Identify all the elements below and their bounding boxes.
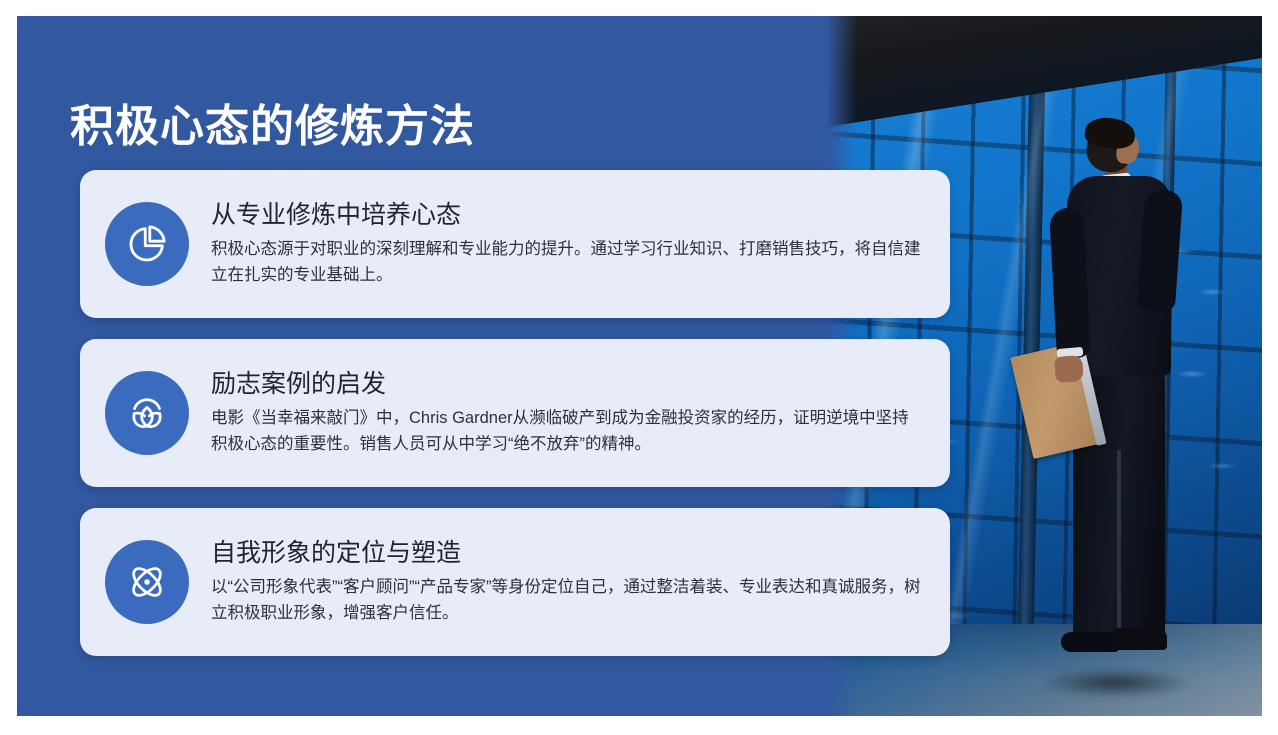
card-title: 从专业修炼中培养心态 bbox=[211, 200, 924, 231]
card-list: 从专业修炼中培养心态 积极心态源于对职业的深刻理解和专业能力的提升。通过学习行业… bbox=[80, 170, 950, 677]
list-item[interactable]: 励志案例的启发 电影《当幸福来敲门》中，Chris Gardner从濒临破产到成… bbox=[80, 339, 950, 487]
list-item[interactable]: 自我形象的定位与塑造 以“公司形象代表”“客户顾问”“产品专家”等身份定位自己，… bbox=[80, 508, 950, 656]
card-description: 电影《当幸福来敲门》中，Chris Gardner从濒临破产到成为金融投资家的经… bbox=[211, 405, 924, 457]
businessman-shoe-right bbox=[1111, 628, 1167, 650]
card-text: 励志案例的启发 电影《当幸福来敲门》中，Chris Gardner从濒临破产到成… bbox=[211, 369, 950, 457]
slide: 积极心态的修炼方法 从专业修炼中培养心态 积极心态源于对职业的深刻理解和专业能力… bbox=[17, 16, 1262, 716]
card-description: 积极心态源于对职业的深刻理解和专业能力的提升。通过学习行业知识、打磨销售技巧，将… bbox=[211, 236, 924, 288]
lotus-flower-icon bbox=[105, 371, 189, 455]
pie-chart-icon bbox=[105, 202, 189, 286]
card-title: 自我形象的定位与塑造 bbox=[211, 538, 924, 569]
businessman-hand bbox=[1054, 355, 1084, 383]
card-text: 从专业修炼中培养心态 积极心态源于对职业的深刻理解和专业能力的提升。通过学习行业… bbox=[211, 200, 950, 288]
card-title: 励志案例的启发 bbox=[211, 369, 924, 400]
atom-icon bbox=[105, 540, 189, 624]
businessman-leg-separation bbox=[1117, 450, 1121, 638]
card-text: 自我形象的定位与塑造 以“公司形象代表”“客户顾问”“产品专家”等身份定位自己，… bbox=[211, 538, 950, 626]
businessman-shoulder-right bbox=[1137, 189, 1183, 311]
card-description: 以“公司形象代表”“客户顾问”“产品专家”等身份定位自己，通过整洁着装、专业表达… bbox=[211, 574, 924, 626]
slide-canvas: 积极心态的修炼方法 从专业修炼中培养心态 积极心态源于对职业的深刻理解和专业能力… bbox=[0, 0, 1278, 735]
page-title: 积极心态的修炼方法 bbox=[70, 102, 475, 153]
list-item[interactable]: 从专业修炼中培养心态 积极心态源于对职业的深刻理解和专业能力的提升。通过学习行业… bbox=[80, 170, 950, 318]
businessman-figure bbox=[1049, 120, 1199, 680]
